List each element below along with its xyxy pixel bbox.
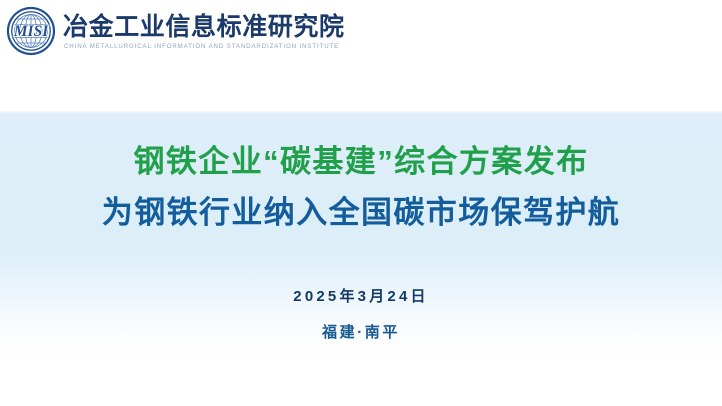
organization-logo-lockup: MISI 冶金工业信息标准研究院 CHINA METALLURGICAL INF… <box>6 6 345 56</box>
organization-name-cn: 冶金工业信息标准研究院 <box>63 14 345 41</box>
organization-name-block: 冶金工业信息标准研究院 CHINA METALLURGICAL INFORMAT… <box>63 12 345 50</box>
misi-globe-logo-icon: MISI <box>6 6 56 56</box>
banner-meta-block: 2025年3月24日 福建·南平 <box>0 286 722 344</box>
header-divider <box>0 111 722 112</box>
organization-name-en: CHINA METALLURGICAL INFORMATION AND STAN… <box>63 41 346 50</box>
banner-title-line-2: 为钢铁行业纳入全国碳市场保驾护航 <box>0 191 722 235</box>
event-date: 2025年3月24日 <box>0 286 722 309</box>
background-band-top-edge <box>0 112 722 113</box>
poster-canvas: MISI 冶金工业信息标准研究院 CHINA METALLURGICAL INF… <box>0 0 722 406</box>
event-location: 福建·南平 <box>0 322 722 345</box>
background-bottom-fade <box>0 336 722 406</box>
header-bar: MISI 冶金工业信息标准研究院 CHINA METALLURGICAL INF… <box>0 0 722 112</box>
banner-title-block: 钢铁企业“碳基建”综合方案发布 为钢铁行业纳入全国碳市场保驾护航 <box>0 140 722 235</box>
svg-text:MISI: MISI <box>13 23 49 40</box>
banner-title-line-1: 钢铁企业“碳基建”综合方案发布 <box>0 140 722 184</box>
